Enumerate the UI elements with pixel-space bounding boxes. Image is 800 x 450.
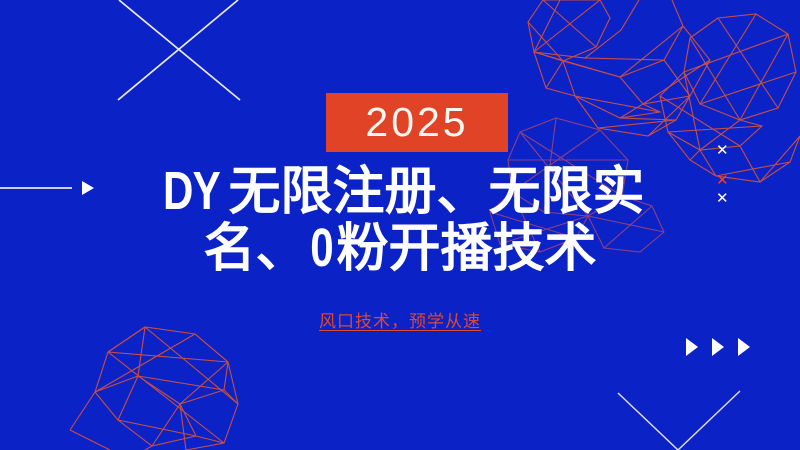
mesh-top-right-a	[528, 0, 710, 136]
headline-line-2-latin: 0	[311, 220, 334, 277]
play-triangles-decoration	[686, 338, 750, 356]
headline-line-1-cjk: 无限注册、无限实	[229, 163, 645, 221]
subtitle: 风口技术，预学从速	[0, 307, 800, 332]
year-badge: 2025	[326, 93, 508, 152]
mesh-bottom-left-sphere	[70, 327, 238, 450]
headline-line-1-latin: DY	[164, 163, 221, 220]
headline-line-2-cjk-after: 粉开播技术	[337, 220, 597, 278]
x-mark-bottom-icon: ✕	[716, 191, 729, 206]
x-mark-top-icon: ✕	[716, 143, 729, 158]
headline-line-2-cjk-before: 名、	[203, 220, 307, 278]
headline-line-2: 名、0粉开播技术	[0, 220, 800, 277]
headline-line-1: DY无限注册、无限实	[0, 163, 800, 220]
subtitle-text: 风口技术，预学从速	[319, 312, 481, 331]
chevron-v-decoration-bottom-right	[618, 391, 740, 450]
year-badge-label: 2025	[365, 102, 468, 143]
x-cross-decoration-top-left	[118, 0, 240, 100]
mesh-top-right-b	[660, 14, 800, 182]
poster-canvas: 2025 DY无限注册、无限实 名、0粉开播技术 风口技术，预学从速 ✕ ✕ ✕	[0, 0, 800, 450]
headline: DY无限注册、无限实 名、0粉开播技术	[0, 163, 800, 277]
x-mark-middle-icon: ✕	[716, 173, 729, 188]
